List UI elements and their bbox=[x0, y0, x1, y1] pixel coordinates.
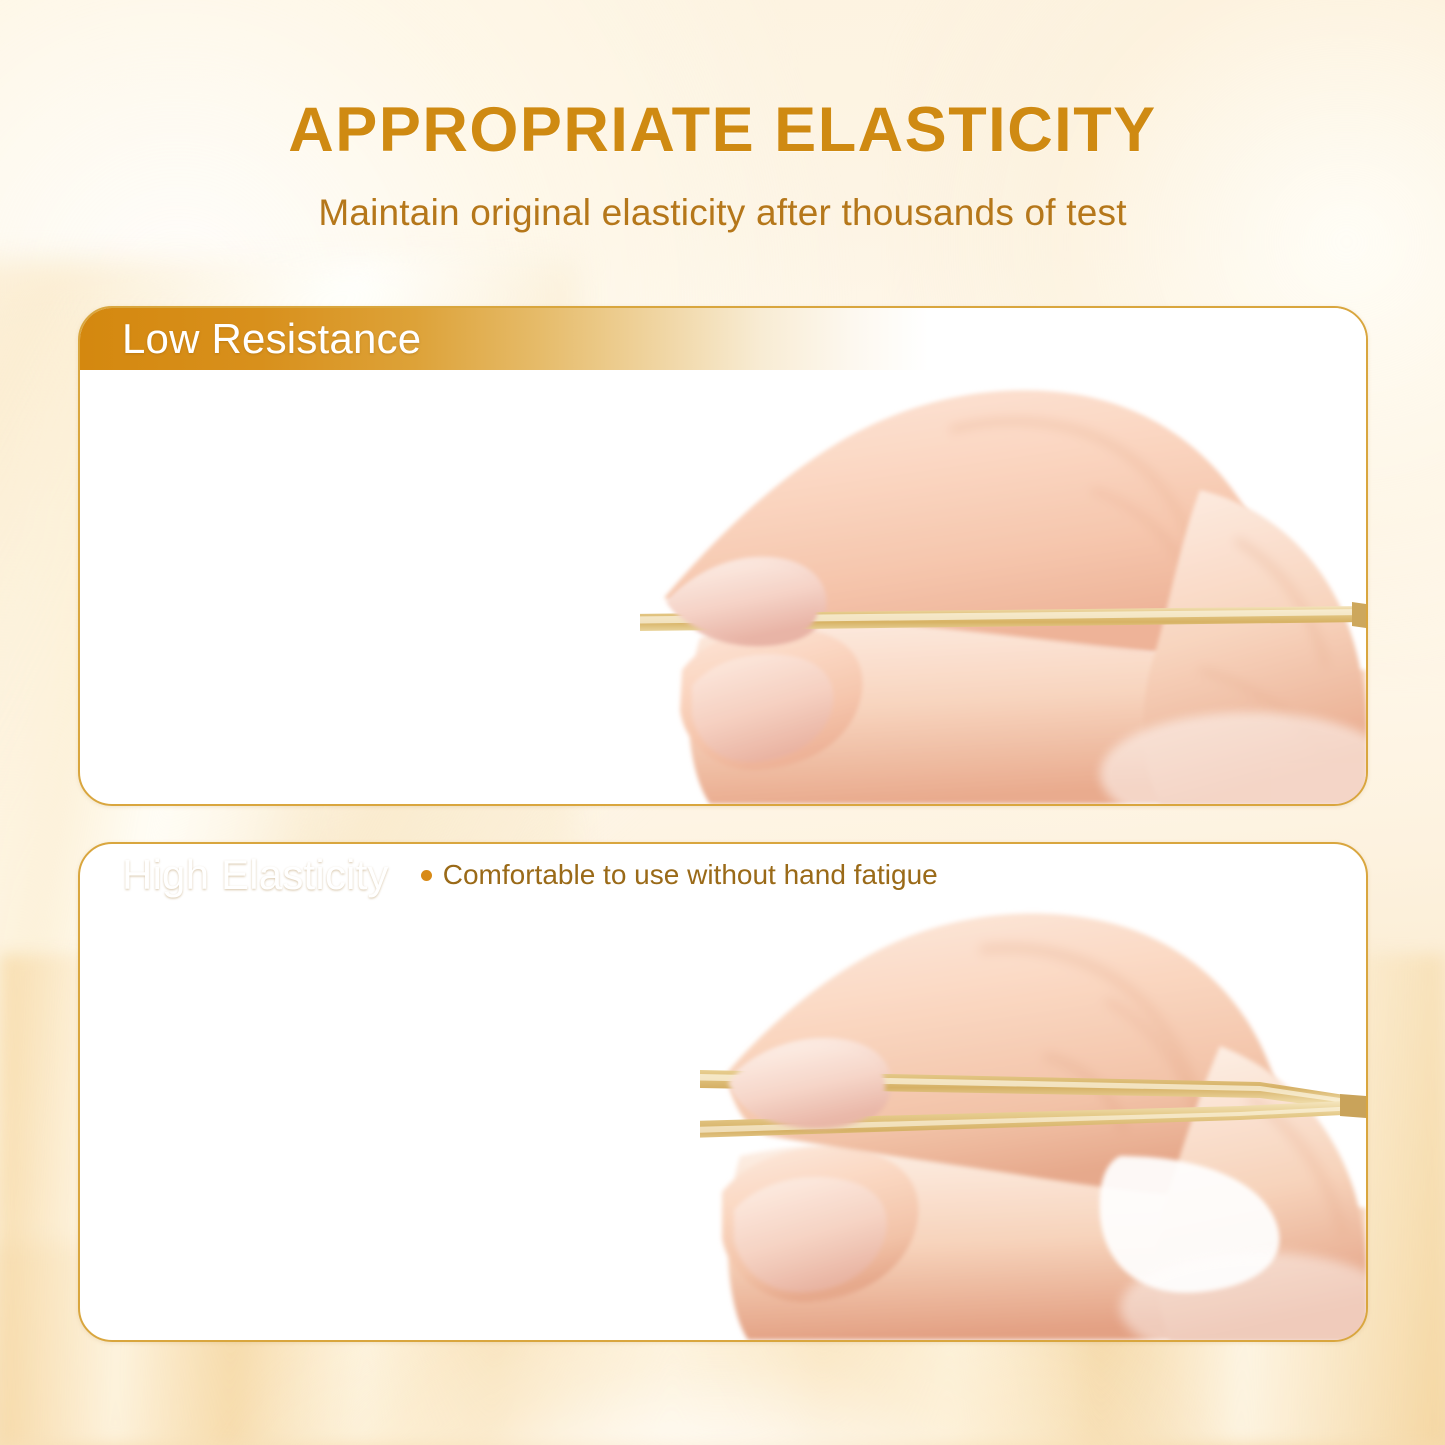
card-title-low-resistance: Low Resistance bbox=[80, 315, 421, 363]
card-body-high-elasticity: rebound easily bbox=[80, 906, 1366, 1340]
hand-holding-open-tweezers-photo bbox=[700, 906, 1366, 1340]
card-header-high-elasticity: High Elasticity Comfortable to use witho… bbox=[80, 844, 1366, 906]
card-note-high-elasticity: Comfortable to use without hand fatigue bbox=[421, 859, 938, 891]
card-header-low-resistance: Low Resistance bbox=[80, 308, 1366, 370]
bullet-icon bbox=[421, 870, 432, 881]
page-subtitle: Maintain original elasticity after thous… bbox=[0, 192, 1445, 234]
card-title-high-elasticity: High Elasticity bbox=[80, 851, 389, 899]
card-body-low-resistance bbox=[80, 370, 1366, 804]
page-title: APPROPRIATE ELASTICITY bbox=[0, 96, 1445, 164]
hand-holding-closed-tweezers-photo bbox=[640, 370, 1366, 804]
card-note-text: Comfortable to use without hand fatigue bbox=[443, 859, 938, 891]
card-high-elasticity: High Elasticity Comfortable to use witho… bbox=[78, 842, 1368, 1342]
card-low-resistance: Low Resistance bbox=[78, 306, 1368, 806]
infographic-page: APPROPRIATE ELASTICITY Maintain original… bbox=[0, 0, 1445, 1445]
